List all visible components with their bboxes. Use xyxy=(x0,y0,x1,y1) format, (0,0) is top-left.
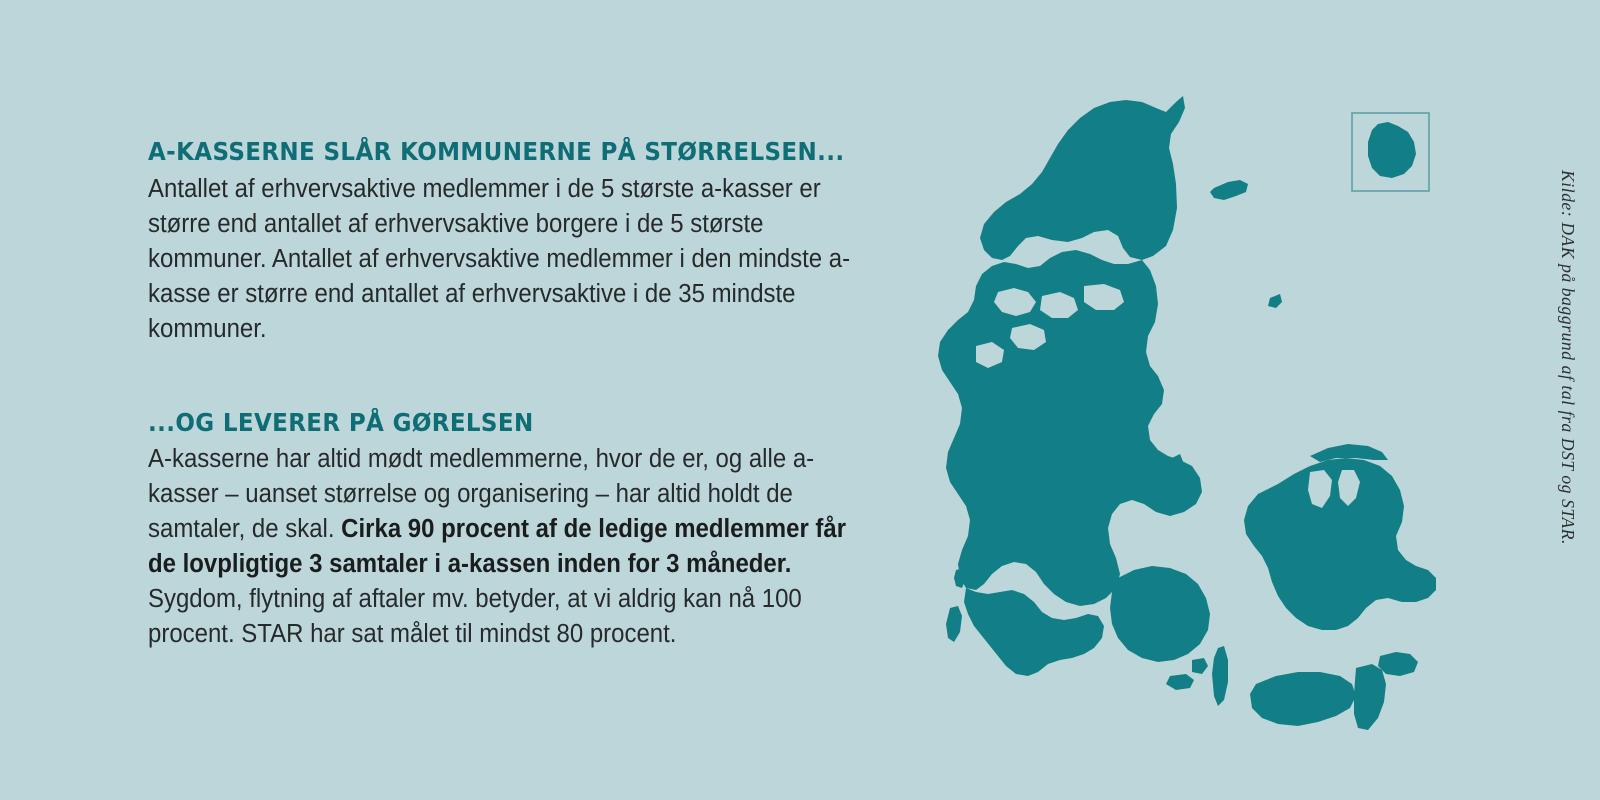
denmark-map xyxy=(880,60,1500,740)
land-mon xyxy=(1378,652,1418,676)
land-romo xyxy=(946,606,962,642)
land-vendsyssel xyxy=(980,96,1185,260)
land-bornholm xyxy=(1368,122,1416,178)
land-aero xyxy=(1166,674,1194,690)
land-lolland xyxy=(1250,672,1356,726)
text-block-two: ...OG LEVERER PÅ GØRELSEN A-kasserne har… xyxy=(148,409,908,653)
paragraph-delivery-tail: Sygdom, flytning af aftaler mv. betyder,… xyxy=(148,585,802,648)
land-falster xyxy=(1354,664,1386,730)
paragraph-delivery: A-kasserne har altid mødt medlemmerne, h… xyxy=(148,442,862,652)
land-anholt xyxy=(1268,294,1282,308)
text-block-one: A-KASSERNE SLÅR KOMMUNERNE PÅ STØRRELSEN… xyxy=(148,138,908,347)
land-taasinge xyxy=(1192,658,1208,674)
denmark-map-svg xyxy=(880,60,1500,740)
section-heading-size: A-KASSERNE SLÅR KOMMUNERNE PÅ STØRRELSEN… xyxy=(148,138,847,166)
section-heading-delivery: ...OG LEVERER PÅ GØRELSEN xyxy=(148,409,847,437)
land-funen xyxy=(1110,566,1210,662)
infographic-canvas: A-KASSERNE SLÅR KOMMUNERNE PÅ STØRRELSEN… xyxy=(0,0,1600,800)
text-column: A-KASSERNE SLÅR KOMMUNERNE PÅ STØRRELSEN… xyxy=(148,138,908,652)
land-laeso xyxy=(1210,180,1248,200)
source-credit: Kilde: DAK på baggrund af tal fra DST og… xyxy=(1557,170,1578,545)
land-langeland xyxy=(1212,646,1228,706)
paragraph-size: Antallet af erhvervsaktive medlemmer i d… xyxy=(148,172,862,347)
